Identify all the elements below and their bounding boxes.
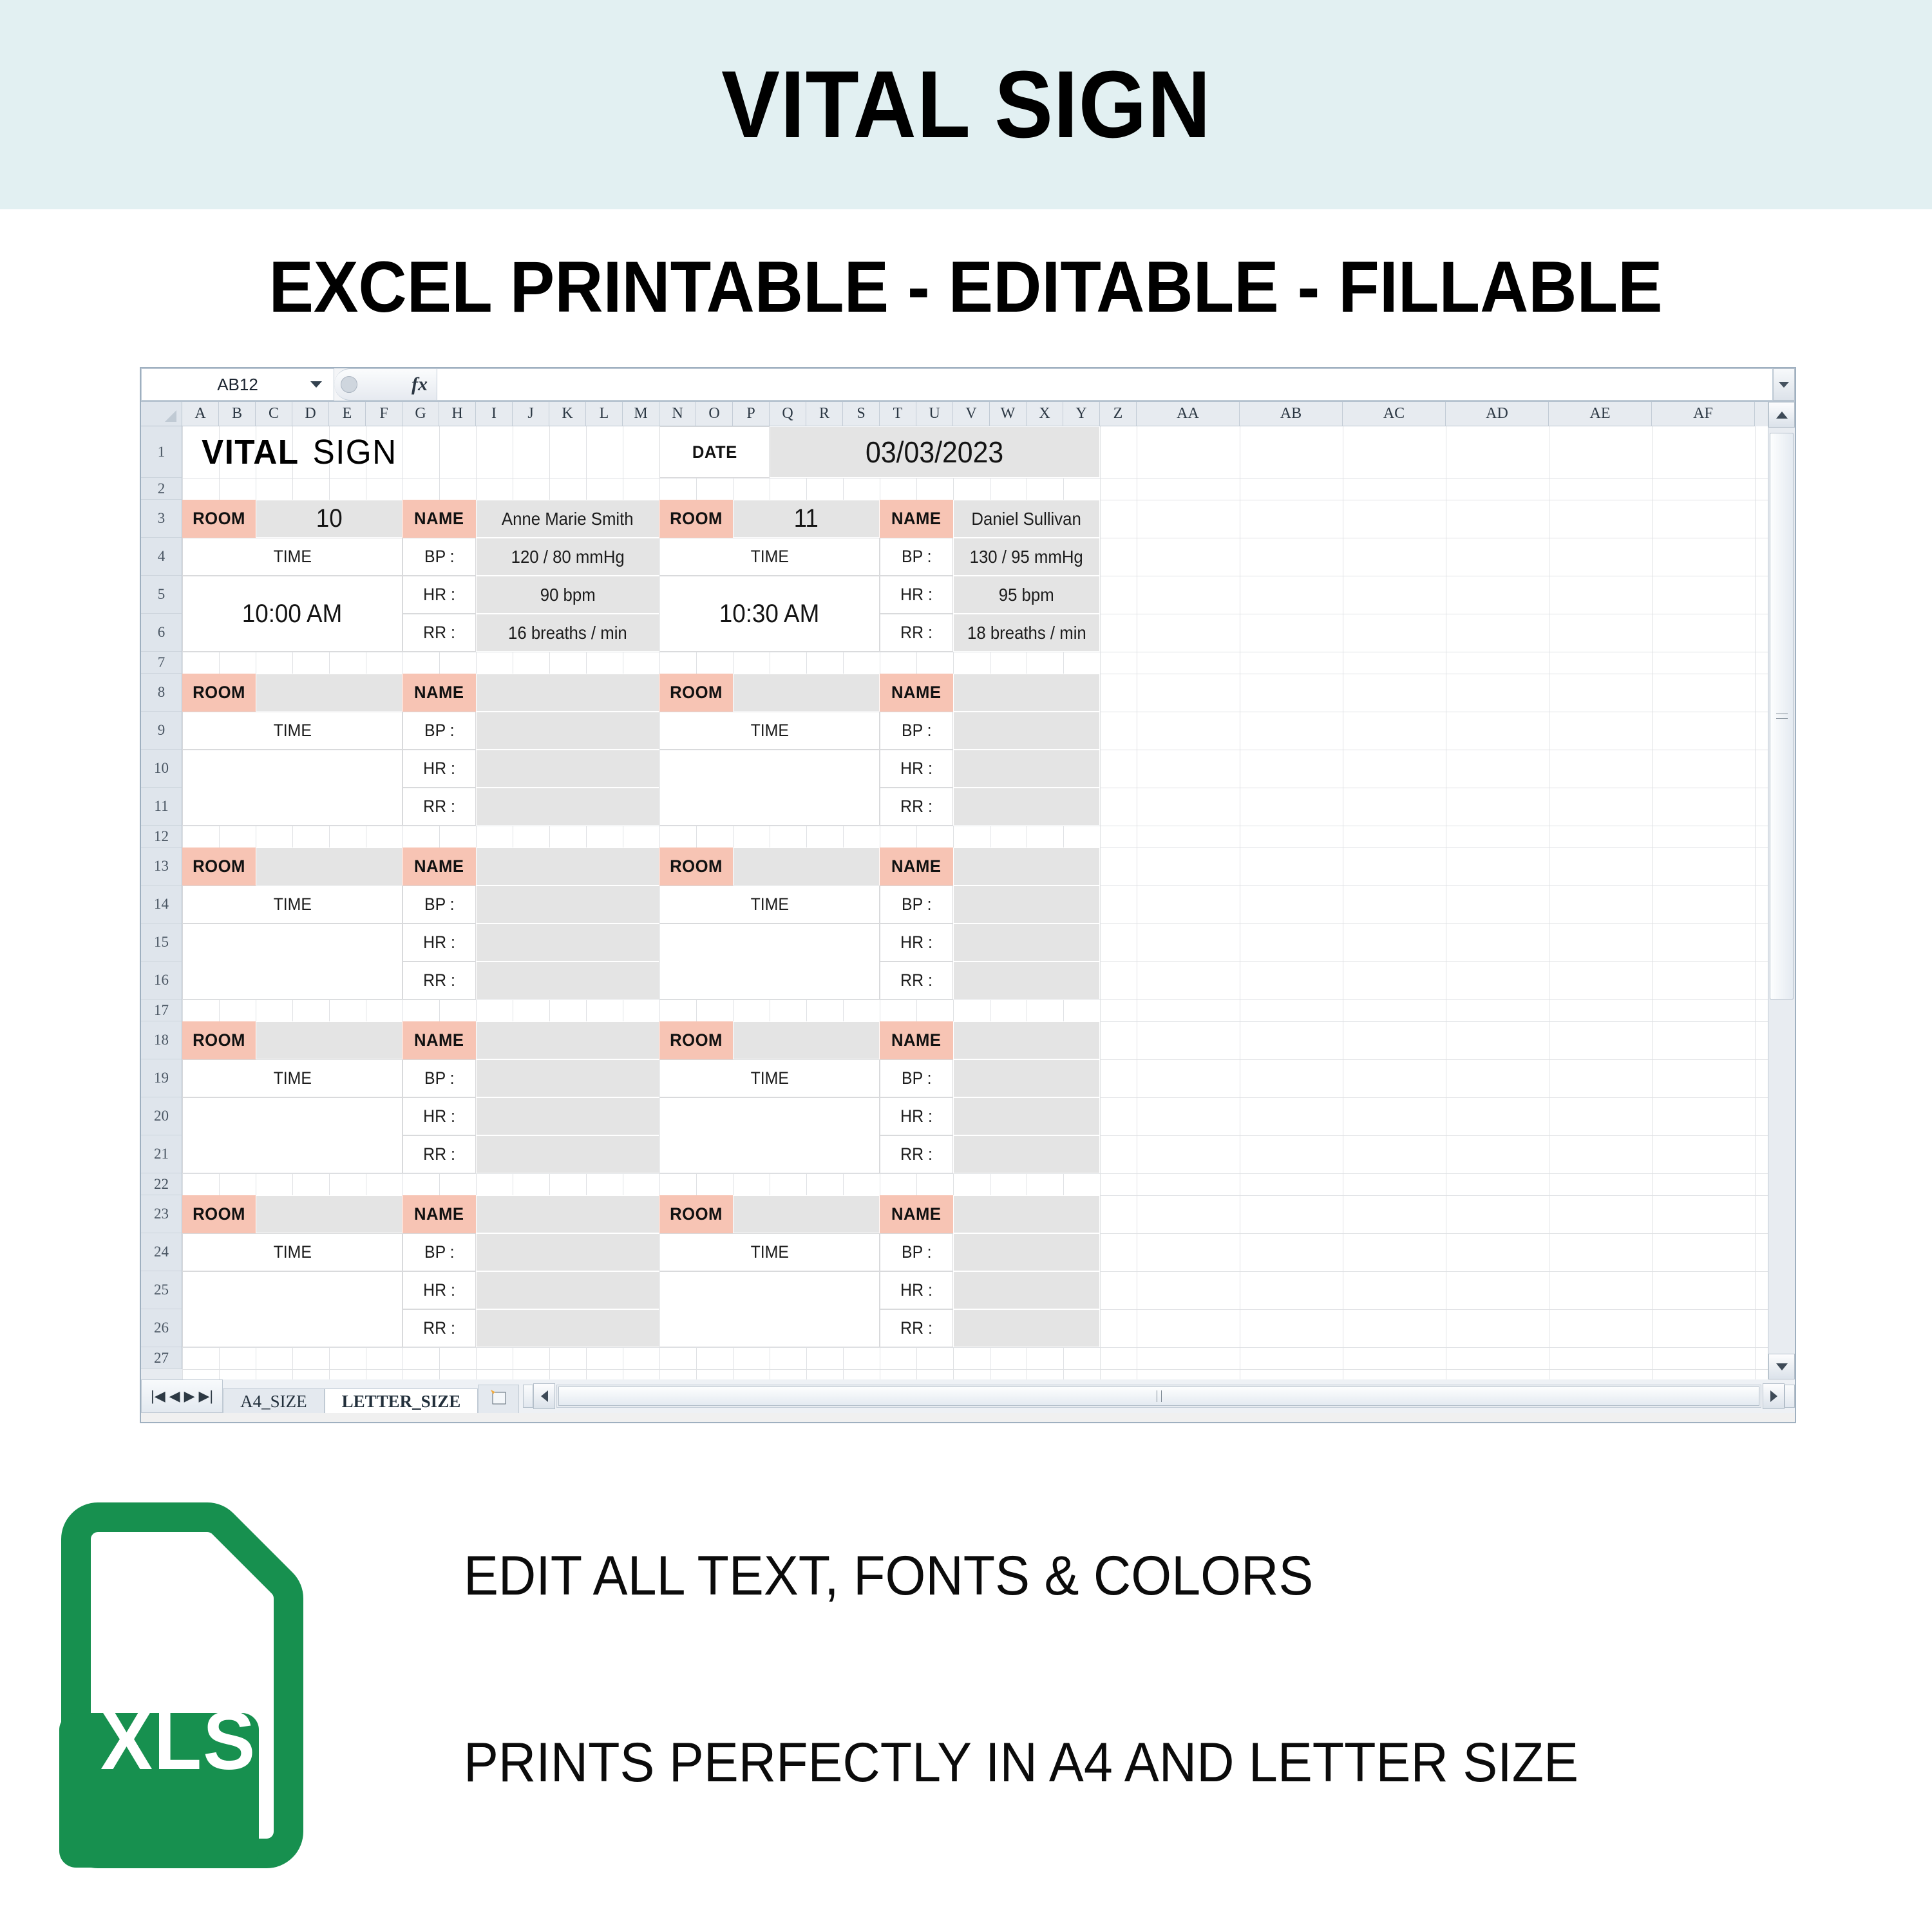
block-3-left-rr-value-text: 16 breaths / min: [508, 623, 627, 643]
block-13-right-time-label-text: TIME: [750, 895, 788, 914]
block-13-right-hr-label-text: HR :: [900, 933, 933, 952]
name-box[interactable]: AB12: [141, 368, 334, 401]
scroll-down-button[interactable]: [1768, 1354, 1795, 1379]
sheet-tab-letter_size[interactable]: LETTER_SIZE: [325, 1388, 478, 1413]
block-8-right-room-label: ROOM: [659, 674, 733, 712]
row-header-7[interactable]: 7: [141, 652, 182, 674]
date-value[interactable]: 03/03/2023: [770, 426, 1100, 478]
column-header-z[interactable]: Z: [1100, 402, 1137, 426]
block-23-left-time-label-text: TIME: [273, 1242, 311, 1262]
feature-line-1: EDIT ALL TEXT, FONTS & COLORS: [464, 1544, 1313, 1608]
chevron-down-icon: [1779, 382, 1789, 388]
block-8-right-name-value[interactable]: [953, 674, 1100, 712]
row-header-18[interactable]: 18: [141, 1021, 182, 1059]
block-23-left-room-label: ROOM: [182, 1195, 256, 1233]
block-3-left-bp-value-text: 120 / 80 mmHg: [511, 547, 624, 567]
block-8-right-hr-label: HR :: [880, 750, 953, 788]
block-13-right-rr-value[interactable]: [953, 961, 1100, 999]
column-header-f[interactable]: F: [366, 402, 402, 426]
block-8-left-room-label-text: ROOM: [193, 683, 245, 703]
block-23-left-hr-label-text: HR :: [423, 1280, 455, 1300]
block-3-left-time-label: TIME: [182, 538, 402, 576]
grip-icon: [1776, 714, 1788, 719]
block-3-right-hr-label: HR :: [880, 576, 953, 614]
block-18-right-name-label-text: NAME: [891, 1030, 941, 1050]
block-8-left-room-value[interactable]: [256, 674, 402, 712]
block-23-right-room-value[interactable]: [733, 1195, 880, 1233]
block-18-right-time-value[interactable]: [659, 1097, 880, 1173]
column-header-af[interactable]: AF: [1652, 402, 1755, 426]
formula-fx-zone: fx: [334, 368, 437, 401]
row-header-20[interactable]: 20: [141, 1097, 182, 1135]
block-3-right-hr-value-text: 95 bpm: [999, 585, 1054, 605]
block-23-left-bp-label: BP :: [402, 1233, 476, 1271]
block-13-left-time-label: TIME: [182, 885, 402, 923]
column-header-h[interactable]: H: [439, 402, 476, 426]
features-section: XLS EDIT ALL TEXT, FONTS & COLORS PRINTS…: [0, 1481, 1932, 1932]
block-3-right-rr-label-text: RR :: [900, 623, 933, 643]
block-13-right-time-value[interactable]: [659, 923, 880, 999]
hscroll-track[interactable]: [556, 1385, 1761, 1408]
block-13-right-bp-value[interactable]: [953, 885, 1100, 923]
name-box-value: AB12: [217, 375, 258, 395]
block-13-left-hr-label: HR :: [402, 923, 476, 961]
row-header-26[interactable]: 26: [141, 1309, 182, 1347]
expand-formula-bar-button[interactable]: [1773, 368, 1795, 401]
block-8-left-rr-label: RR :: [402, 788, 476, 826]
block-3-left-hr-value[interactable]: 90 bpm: [476, 576, 659, 614]
sheet-tab-bar: |◀ ◀ ▶ ▶| A4_SIZELETTER_SIZE: [141, 1379, 1795, 1413]
new-sheet-icon[interactable]: [478, 1385, 519, 1413]
sheet-tabs[interactable]: A4_SIZELETTER_SIZE: [223, 1379, 519, 1413]
block-13-left-bp-value[interactable]: [476, 885, 659, 923]
column-header-l[interactable]: L: [586, 402, 623, 426]
block-8-left-bp-label-text: BP :: [424, 721, 455, 741]
block-3-right-hr-value[interactable]: 95 bpm: [953, 576, 1100, 614]
row-header-2[interactable]: 2: [141, 478, 182, 500]
row-header-27[interactable]: 27: [141, 1347, 182, 1369]
block-13-left-time-value[interactable]: [182, 923, 402, 999]
block-3-left-time-label-text: TIME: [273, 547, 311, 567]
block-18-right-rr-label-text: RR :: [900, 1144, 933, 1164]
date-label: DATE: [659, 426, 770, 478]
block-8-right-rr-label-text: RR :: [900, 797, 933, 817]
block-3-left-room-label: ROOM: [182, 500, 256, 538]
block-8-left-hr-label-text: HR :: [423, 759, 455, 779]
row-header-16[interactable]: 16: [141, 961, 182, 999]
sheet-title: VITALSIGN: [182, 426, 439, 478]
block-3-right-time-value[interactable]: 10:30 AM: [659, 576, 880, 652]
block-3-right-bp-value-text: 130 / 95 mmHg: [970, 547, 1083, 567]
subtitle-text: EXCEL PRINTABLE - EDITABLE - FILLABLE: [269, 245, 1663, 328]
scroll-up-button[interactable]: [1768, 402, 1795, 428]
block-3-right-name-label-text: NAME: [891, 509, 941, 529]
top-banner: VITAL SIGN: [0, 0, 1932, 209]
block-13-left-rr-label-text: RR :: [423, 971, 455, 990]
block-3-right-room-value-text: 11: [794, 504, 819, 533]
block-13-right-name-label-text: NAME: [891, 857, 941, 876]
scroll-left-button[interactable]: [533, 1383, 555, 1409]
column-header-ad[interactable]: AD: [1446, 402, 1549, 426]
next-sheet-icon[interactable]: ▶: [184, 1388, 195, 1405]
row-header-17[interactable]: 17: [141, 999, 182, 1021]
block-13-left-rr-label: RR :: [402, 961, 476, 999]
block-23-right-rr-value[interactable]: [953, 1309, 1100, 1347]
chevron-down-icon[interactable]: [310, 381, 322, 388]
block-13-right-name-value[interactable]: [953, 848, 1100, 885]
block-3-left-rr-value[interactable]: 16 breaths / min: [476, 614, 659, 652]
column-header-row: ABCDEFGHIJKLMNOPQRSTUVWXYZAAABACADAEAF: [141, 402, 1768, 426]
block-3-left-bp-label-text: BP :: [424, 547, 455, 567]
block-8-right-time-value[interactable]: [659, 750, 880, 826]
column-header-q[interactable]: Q: [770, 402, 806, 426]
block-18-left-room-label: ROOM: [182, 1021, 256, 1059]
block-8-right-bp-value[interactable]: [953, 712, 1100, 750]
split-handle[interactable]: [523, 1385, 533, 1408]
block-23-left-rr-value[interactable]: [476, 1309, 659, 1347]
row-header-4[interactable]: 4: [141, 538, 182, 576]
block-23-right-bp-value[interactable]: [953, 1233, 1100, 1271]
block-8-left-rr-value[interactable]: [476, 788, 659, 826]
cancel-enter-icon[interactable]: [341, 376, 357, 393]
block-23-left-hr-label: HR :: [402, 1271, 476, 1309]
block-8-left-hr-label: HR :: [402, 750, 476, 788]
block-3-right-room-label: ROOM: [659, 500, 733, 538]
block-3-right-name-value[interactable]: Daniel Sullivan: [953, 500, 1100, 538]
row-header-25[interactable]: 25: [141, 1271, 182, 1309]
block-13-left-name-label: NAME: [402, 848, 476, 885]
column-header-ac[interactable]: AC: [1343, 402, 1446, 426]
horizontal-scrollbar[interactable]: [519, 1379, 1795, 1413]
block-13-right-room-label: ROOM: [659, 848, 733, 885]
block-23-left-bp-label-text: BP :: [424, 1242, 455, 1262]
block-3-left-time-value-text: 10:00 AM: [242, 600, 342, 629]
block-23-left-time-value[interactable]: [182, 1271, 402, 1347]
vscroll-thumb[interactable]: [1770, 433, 1794, 999]
block-23-left-time-label: TIME: [182, 1233, 402, 1271]
block-3-left-bp-label: BP :: [402, 538, 476, 576]
column-header-u[interactable]: U: [916, 402, 953, 426]
column-header-aa[interactable]: AA: [1137, 402, 1240, 426]
block-13-right-bp-label-text: BP :: [902, 895, 932, 914]
block-18-right-bp-label: BP :: [880, 1059, 953, 1097]
row-header-21[interactable]: 21: [141, 1135, 182, 1173]
vscroll-track[interactable]: [1768, 428, 1795, 1354]
block-8-right-bp-label: BP :: [880, 712, 953, 750]
column-header-k[interactable]: K: [549, 402, 586, 426]
column-header-g[interactable]: G: [402, 402, 439, 426]
block-8-right-hr-value[interactable]: [953, 750, 1100, 788]
row-header-11[interactable]: 11: [141, 788, 182, 826]
row-header-10[interactable]: 10: [141, 750, 182, 788]
row-header-column: 1234567891011121314151617181920212223242…: [141, 426, 182, 1379]
block-18-right-hr-label-text: HR :: [900, 1106, 933, 1126]
block-18-right-hr-label: HR :: [880, 1097, 953, 1135]
block-23-right-time-label-text: TIME: [750, 1242, 788, 1262]
column-header-x[interactable]: X: [1027, 402, 1063, 426]
block-8-left-bp-label: BP :: [402, 712, 476, 750]
block-13-right-room-label-text: ROOM: [670, 857, 723, 876]
block-23-left-bp-value[interactable]: [476, 1233, 659, 1271]
block-18-left-bp-label: BP :: [402, 1059, 476, 1097]
block-18-right-name-label: NAME: [880, 1021, 953, 1059]
block-18-left-hr-value[interactable]: [476, 1097, 659, 1135]
excel-window: AB12 fx ABCDEFGHIJKLMNOPQRSTUVWXYZAAABAC…: [140, 367, 1796, 1423]
first-sheet-icon[interactable]: |◀: [151, 1388, 166, 1405]
block-18-left-room-value[interactable]: [256, 1021, 402, 1059]
row-header-13[interactable]: 13: [141, 848, 182, 885]
column-header-r[interactable]: R: [806, 402, 843, 426]
block-23-right-rr-label-text: RR :: [900, 1318, 933, 1338]
block-8-left-name-label-text: NAME: [414, 683, 464, 703]
row-header-8[interactable]: 8: [141, 674, 182, 712]
block-18-left-rr-label: RR :: [402, 1135, 476, 1173]
block-3-left-rr-label-text: RR :: [423, 623, 455, 643]
column-header-s[interactable]: S: [843, 402, 880, 426]
block-13-left-room-label: ROOM: [182, 848, 256, 885]
block-3-left-room-label-text: ROOM: [193, 509, 245, 529]
block-8-right-time-label: TIME: [659, 712, 880, 750]
grid-area: ABCDEFGHIJKLMNOPQRSTUVWXYZAAABACADAEAF 1…: [141, 402, 1795, 1379]
block-23-left-name-label-text: NAME: [414, 1204, 464, 1224]
block-18-left-time-value[interactable]: [182, 1097, 402, 1173]
block-18-right-room-label: ROOM: [659, 1021, 733, 1059]
block-8-left-time-label-text: TIME: [273, 721, 311, 741]
row-header-22[interactable]: 22: [141, 1173, 182, 1195]
block-8-left-hr-value[interactable]: [476, 750, 659, 788]
prev-sheet-icon[interactable]: ◀: [169, 1388, 180, 1405]
block-23-right-hr-label-text: HR :: [900, 1280, 933, 1300]
block-3-right-bp-value[interactable]: 130 / 95 mmHg: [953, 538, 1100, 576]
column-header-d[interactable]: D: [292, 402, 329, 426]
block-8-right-name-label-text: NAME: [891, 683, 941, 703]
block-13-left-hr-value[interactable]: [476, 923, 659, 961]
block-18-left-room-label-text: ROOM: [193, 1030, 245, 1050]
block-3-left-time-value[interactable]: 10:00 AM: [182, 576, 402, 652]
block-18-right-time-label-text: TIME: [750, 1068, 788, 1088]
triangle-down-icon: [1776, 1363, 1788, 1370]
block-18-left-rr-value[interactable]: [476, 1135, 659, 1173]
block-18-right-room-label-text: ROOM: [670, 1030, 723, 1050]
date-value-text: 03/03/2023: [866, 435, 1003, 469]
row-header-23[interactable]: 23: [141, 1195, 182, 1233]
block-3-left-name-label: NAME: [402, 500, 476, 538]
block-8-left-rr-label-text: RR :: [423, 797, 455, 817]
block-8-right-hr-label-text: HR :: [900, 759, 933, 779]
block-3-right-bp-label: BP :: [880, 538, 953, 576]
block-13-left-bp-label-text: BP :: [424, 895, 455, 914]
block-13-left-name-label-text: NAME: [414, 857, 464, 876]
block-3-right-rr-value-text: 18 breaths / min: [967, 623, 1086, 643]
block-18-right-hr-value[interactable]: [953, 1097, 1100, 1135]
formula-input[interactable]: [437, 368, 1773, 401]
block-3-right-time-value-text: 10:30 AM: [719, 600, 819, 629]
block-23-right-room-label-text: ROOM: [670, 1204, 723, 1224]
block-23-left-name-value[interactable]: [476, 1195, 659, 1233]
block-23-right-time-value[interactable]: [659, 1271, 880, 1347]
block-8-left-bp-value[interactable]: [476, 712, 659, 750]
column-header-n[interactable]: N: [659, 402, 696, 426]
block-23-right-room-label: ROOM: [659, 1195, 733, 1233]
row-header-9[interactable]: 9: [141, 712, 182, 750]
block-18-right-rr-label: RR :: [880, 1135, 953, 1173]
date-label-text: DATE: [692, 442, 737, 462]
scroll-right-button[interactable]: [1763, 1383, 1785, 1409]
block-23-right-rr-label: RR :: [880, 1309, 953, 1347]
block-8-left-time-label: TIME: [182, 712, 402, 750]
column-header-ae[interactable]: AE: [1549, 402, 1652, 426]
block-13-right-bp-label: BP :: [880, 885, 953, 923]
row-header-1[interactable]: 1: [141, 426, 182, 478]
block-18-right-bp-value[interactable]: [953, 1059, 1100, 1097]
column-header-v[interactable]: V: [953, 402, 990, 426]
column-header-p[interactable]: P: [733, 402, 770, 426]
sheet-tab-a4_size[interactable]: A4_SIZE: [223, 1388, 325, 1413]
column-header-a[interactable]: A: [182, 402, 219, 426]
xls-file-icon: [50, 1501, 353, 1874]
block-8-left-room-label: ROOM: [182, 674, 256, 712]
triangle-left-icon: [541, 1390, 548, 1402]
row-header-5[interactable]: 5: [141, 576, 182, 614]
block-13-left-hr-label-text: HR :: [423, 933, 455, 952]
grip-icon: [1157, 1390, 1162, 1402]
block-8-right-name-label: NAME: [880, 674, 953, 712]
row-header-6[interactable]: 6: [141, 614, 182, 652]
block-23-right-name-label: NAME: [880, 1195, 953, 1233]
block-23-right-name-value[interactable]: [953, 1195, 1100, 1233]
block-3-right-bp-label-text: BP :: [902, 547, 932, 567]
column-header-ab[interactable]: AB: [1240, 402, 1343, 426]
block-3-left-room-value[interactable]: 10: [256, 500, 402, 538]
sheet-title-light: SIGN: [313, 432, 397, 472]
block-18-right-rr-value[interactable]: [953, 1135, 1100, 1173]
block-8-right-room-label-text: ROOM: [670, 683, 723, 703]
block-18-right-name-value[interactable]: [953, 1021, 1100, 1059]
block-18-left-bp-label-text: BP :: [424, 1068, 455, 1088]
row-header-12[interactable]: 12: [141, 826, 182, 848]
row-header-24[interactable]: 24: [141, 1233, 182, 1271]
block-18-left-time-label-text: TIME: [273, 1068, 311, 1088]
block-13-right-name-label: NAME: [880, 848, 953, 885]
triangle-right-icon: [1770, 1390, 1777, 1402]
block-3-left-name-value-text: Anne Marie Smith: [502, 509, 634, 529]
row-header-3[interactable]: 3: [141, 500, 182, 538]
block-13-right-hr-label: HR :: [880, 923, 953, 961]
block-18-left-name-value[interactable]: [476, 1021, 659, 1059]
block-18-left-time-label: TIME: [182, 1059, 402, 1097]
column-header-j[interactable]: J: [513, 402, 549, 426]
select-all-corner[interactable]: [141, 402, 182, 426]
column-header-e[interactable]: E: [329, 402, 366, 426]
block-18-right-time-label: TIME: [659, 1059, 880, 1097]
block-3-left-hr-value-text: 90 bpm: [540, 585, 596, 605]
block-13-left-name-value[interactable]: [476, 848, 659, 885]
column-header-m[interactable]: M: [623, 402, 659, 426]
row-header-19[interactable]: 19: [141, 1059, 182, 1097]
block-23-right-hr-label: HR :: [880, 1271, 953, 1309]
column-header-t[interactable]: T: [880, 402, 916, 426]
block-18-left-name-label-text: NAME: [414, 1030, 464, 1050]
xls-badge-label: XLS: [65, 1694, 292, 1788]
hscroll-thumb[interactable]: [558, 1387, 1759, 1406]
column-header-w[interactable]: W: [990, 402, 1027, 426]
block-8-right-time-label-text: TIME: [750, 721, 788, 741]
block-8-left-time-value[interactable]: [182, 750, 402, 826]
function-icon[interactable]: fx: [412, 374, 428, 395]
row-header-15[interactable]: 15: [141, 923, 182, 961]
block-3-left-rr-label: RR :: [402, 614, 476, 652]
block-3-right-room-value[interactable]: 11: [733, 500, 880, 538]
last-sheet-icon[interactable]: ▶|: [198, 1388, 213, 1405]
block-3-right-time-label: TIME: [659, 538, 880, 576]
block-23-left-room-value[interactable]: [256, 1195, 402, 1233]
block-3-left-hr-label: HR :: [402, 576, 476, 614]
block-3-right-name-label: NAME: [880, 500, 953, 538]
block-3-left-name-value[interactable]: Anne Marie Smith: [476, 500, 659, 538]
block-8-right-rr-value[interactable]: [953, 788, 1100, 826]
block-8-left-name-value[interactable]: [476, 674, 659, 712]
block-18-left-rr-label-text: RR :: [423, 1144, 455, 1164]
block-8-right-rr-label: RR :: [880, 788, 953, 826]
block-3-right-rr-value[interactable]: 18 breaths / min: [953, 614, 1100, 652]
block-13-right-rr-label: RR :: [880, 961, 953, 999]
block-18-left-hr-label: HR :: [402, 1097, 476, 1135]
block-3-left-name-label-text: NAME: [414, 509, 464, 529]
sheet-nav-buttons[interactable]: |◀ ◀ ▶ ▶|: [141, 1379, 223, 1413]
block-23-left-rr-label: RR :: [402, 1309, 476, 1347]
block-13-right-hr-value[interactable]: [953, 923, 1100, 961]
block-13-left-room-value[interactable]: [256, 848, 402, 885]
block-13-left-bp-label: BP :: [402, 885, 476, 923]
vertical-scrollbar[interactable]: [1768, 402, 1795, 1379]
block-3-right-rr-label: RR :: [880, 614, 953, 652]
block-23-right-hr-value[interactable]: [953, 1271, 1100, 1309]
feature-line-2: PRINTS PERFECTLY IN A4 AND LETTER SIZE: [464, 1731, 1578, 1795]
block-23-left-hr-value[interactable]: [476, 1271, 659, 1309]
block-18-left-bp-value[interactable]: [476, 1059, 659, 1097]
block-13-left-rr-value[interactable]: [476, 961, 659, 999]
column-header-c[interactable]: C: [256, 402, 292, 426]
block-3-right-name-value-text: Daniel Sullivan: [972, 509, 1081, 529]
block-3-left-bp-value[interactable]: 120 / 80 mmHg: [476, 538, 659, 576]
split-handle-right[interactable]: [1785, 1385, 1795, 1408]
block-13-right-time-label: TIME: [659, 885, 880, 923]
block-13-right-room-value[interactable]: [733, 848, 880, 885]
block-3-right-room-label-text: ROOM: [670, 509, 723, 529]
column-header-y[interactable]: Y: [1063, 402, 1100, 426]
block-18-right-bp-label-text: BP :: [902, 1068, 932, 1088]
sheet-title-bold: VITAL: [202, 432, 299, 472]
column-header-b[interactable]: B: [219, 402, 256, 426]
cells-region[interactable]: VITALSIGNDATE03/03/2023ROOM10NAMEAnne Ma…: [182, 426, 1768, 1379]
block-13-right-rr-label-text: RR :: [900, 971, 933, 990]
block-13-left-room-label-text: ROOM: [193, 857, 245, 876]
formula-bar: AB12 fx: [141, 368, 1795, 402]
block-18-left-name-label: NAME: [402, 1021, 476, 1059]
block-3-right-time-label-text: TIME: [750, 547, 788, 567]
block-23-left-name-label: NAME: [402, 1195, 476, 1233]
column-header-i[interactable]: I: [476, 402, 513, 426]
block-8-right-room-value[interactable]: [733, 674, 880, 712]
block-3-left-hr-label-text: HR :: [423, 585, 455, 605]
block-23-left-rr-label-text: RR :: [423, 1318, 455, 1338]
triangle-up-icon: [1776, 412, 1788, 419]
column-header-o[interactable]: O: [696, 402, 733, 426]
page-title: VITAL SIGN: [721, 50, 1211, 160]
row-header-14[interactable]: 14: [141, 885, 182, 923]
block-23-right-bp-label-text: BP :: [902, 1242, 932, 1262]
block-18-right-room-value[interactable]: [733, 1021, 880, 1059]
